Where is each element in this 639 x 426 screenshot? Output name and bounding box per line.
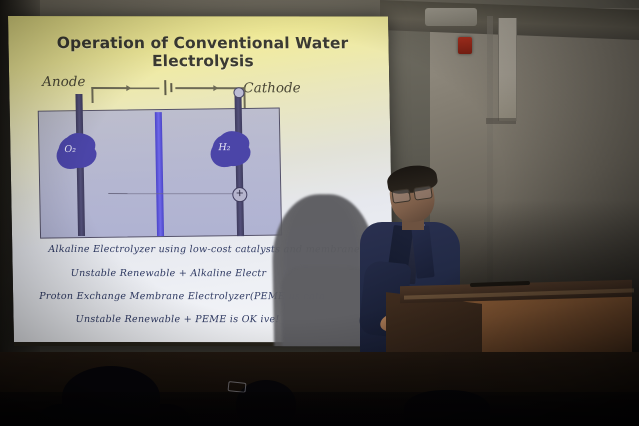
foreground-shadow xyxy=(0,392,639,426)
slide-title: Operation of Conventional Water Electrol… xyxy=(32,34,373,70)
presentation-slide: Operation of Conventional Water Electrol… xyxy=(8,16,394,342)
power-source-icon xyxy=(164,80,166,95)
lecture-hall-photo: Operation of Conventional Water Electrol… xyxy=(0,0,639,426)
cathode-terminal-icon xyxy=(233,87,244,98)
slide-bullet-4: Unstable Renewable + PEME is OK ive! xyxy=(75,314,279,325)
cathode-label: Cathode xyxy=(243,80,301,96)
wire-anode-vertical xyxy=(91,87,93,103)
current-arrow-right-icon xyxy=(213,85,218,91)
projection-screen: Operation of Conventional Water Electrol… xyxy=(8,16,394,346)
hydrogen-label: H₂ xyxy=(218,142,230,153)
ion-transport-arrow xyxy=(108,193,238,195)
glasses-bridge xyxy=(408,192,414,194)
ion-charge-icon: + xyxy=(232,187,247,202)
anode-label: Anode xyxy=(42,74,86,90)
air-conditioner-unit xyxy=(425,8,477,26)
power-source-terminal-icon xyxy=(170,83,172,92)
door-frame-edge xyxy=(486,118,516,124)
slide-bullet-2: Unstable Renewable + Alkaline Electr xyxy=(71,268,267,279)
current-arrow-left-icon xyxy=(126,85,131,91)
lens-left xyxy=(391,188,411,203)
lens-right xyxy=(413,185,433,200)
fire-alarm-icon xyxy=(458,37,472,54)
wall-recess-panel xyxy=(498,18,517,121)
oxygen-label: O₂ xyxy=(64,144,76,155)
